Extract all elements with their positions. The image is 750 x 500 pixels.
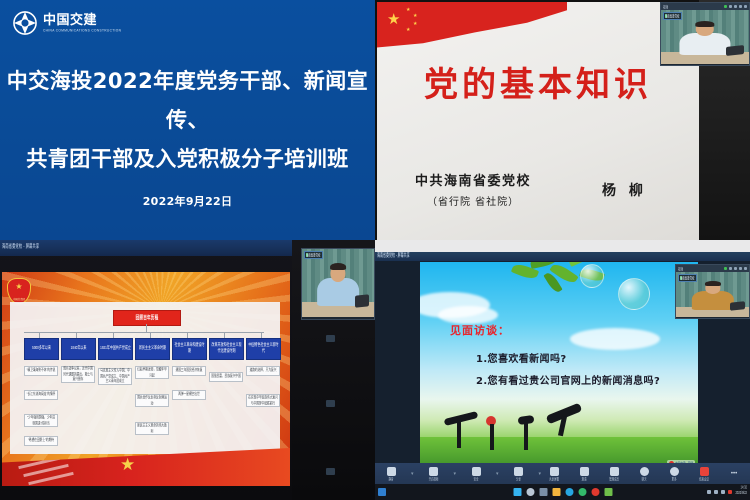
taskbar-date: 2022/9/22 (735, 490, 747, 495)
org-leaf-4-1: 红船早期发轫，觉醒年华兴起 (135, 366, 169, 379)
org-leaf-1-3: “少年强则国强，少年进则国进”的担当 (24, 414, 58, 427)
toolbar-end-label: 结束会议 (699, 475, 709, 482)
org-node-2: 1840年以来 (61, 338, 96, 360)
shared-window-title-right: 海南省委党校 - 屏幕共享 (377, 251, 410, 258)
toolbar-chat-button[interactable]: 聊天 (631, 467, 657, 481)
share-icon (514, 467, 523, 476)
projected-slide-left: ★ 中国共青团 回顾百年历程 5000多年以来 “精卫填海誓不休”的传说 (2, 272, 290, 486)
participant-name-chip: 海南省委党校 (663, 12, 682, 20)
participant-name: 海南省委党校 (665, 13, 679, 20)
participant-name-chip: 海南省委党校 (678, 274, 697, 282)
shared-window-titlebar-right[interactable]: 海南省委党校 - 屏幕共享 (375, 252, 750, 261)
org-chart-root: 回顾百年历程 (113, 310, 181, 326)
slide-heading: 见面访谈： (450, 322, 510, 338)
org-leaf-1-4: “希望在田野上”的期待 (24, 436, 58, 446)
toolbar-security-button[interactable]: 安全 (463, 467, 489, 481)
toolbar-end-meeting-button[interactable]: 结束会议 (691, 467, 717, 481)
cover-title: 中交海投2022年度党务干部、新闻宣传、 共青团干部及入党积极分子培训班 (0, 62, 375, 179)
toolbar-invite-button[interactable]: 邀请 (571, 467, 597, 481)
projected-slide-right: 见面访谈： 1.您喜欢看新闻吗? 2.您有看过贵公司官网上的新闻消息吗? 中国交… (420, 262, 698, 470)
meeting-toolbar[interactable]: 静音 ▾ 开启视频 ▾ 安全 ▾ 分享 ▾ (375, 463, 750, 484)
org-leaf-1-2: “长江东流海阔连”的情怀 (24, 390, 58, 400)
taskbar-clock[interactable]: 14:32 2022/9/22 (735, 487, 747, 497)
search-icon[interactable] (526, 488, 534, 496)
browser-icon[interactable] (604, 488, 612, 496)
layout-icon[interactable] (729, 5, 732, 8)
pip-window-title: 视频 (663, 3, 668, 9)
toolbar-chat-label: 聊天 (642, 475, 647, 482)
slide-organization: 中共海南省委党校 (415, 170, 531, 189)
camera-icon (429, 467, 438, 476)
pip-video-window-bottom-right[interactable]: 视频 海南省委党校 (675, 264, 750, 319)
toolbar-mute-label: 静音 (389, 475, 394, 482)
panel-course-cover: 中国交建 CHINA COMMUNICATIONS CONSTRUCTION 中… (0, 0, 375, 240)
grid-icon[interactable] (734, 267, 737, 270)
pip-window-title: 视频 (678, 265, 683, 271)
green-status-icon (724, 267, 727, 270)
panel-news-interview: 海南省委党校 - 屏幕共享 见面访谈： 1.您喜欢看新闻吗? (375, 240, 750, 500)
toolbar-share-label: 分享 (516, 475, 521, 482)
cover-title-line2: 共青团干部及入党积极分子培训班 (0, 140, 375, 179)
panel-century-journey: 海南省委党校 - 屏幕共享 ★ 中国共青团 回顾百年历程 5000多年以来 (0, 240, 375, 500)
close-icon[interactable] (744, 267, 747, 270)
chevron-down-icon[interactable]: ▾ (411, 471, 414, 477)
pip-video-feed: 海南省委党校 (302, 249, 374, 317)
start-icon[interactable] (378, 488, 386, 496)
explorer-icon[interactable] (552, 488, 560, 496)
edge-icon[interactable] (565, 488, 573, 496)
network-icon[interactable] (714, 490, 718, 494)
bubble-icon (618, 278, 650, 310)
expand-icon[interactable] (739, 5, 742, 8)
leaves-decoration-icon (506, 262, 636, 308)
participant-name: 海南省委党校 (306, 252, 320, 259)
toolbar-video-button[interactable]: 开启视频 (421, 467, 447, 481)
org-leaf-5-2: 两弹一星横空出世 (172, 390, 206, 400)
org-leaf-7-2: 在实现中华民族伟大复兴与中国梦中砥砺前行 (246, 394, 280, 407)
toolbar-video-label: 开启视频 (429, 475, 439, 482)
org-leaf-6-1: 国强民富、民族复兴中国 (209, 372, 243, 382)
notification-icon[interactable] (728, 490, 732, 494)
toolbar-security-label: 安全 (474, 475, 479, 482)
logo-en-text: CHINA COMMUNICATIONS CONSTRUCTION (43, 29, 121, 33)
members-icon (610, 467, 619, 476)
screen-share-icon (550, 467, 559, 476)
org-leaf-4-2: 国共合作反反帝反封建运动 (135, 394, 169, 407)
green-status-icon (724, 5, 727, 8)
meeting-window: 海南省委党校 - 屏幕共享 见面访谈： 1.您喜欢看新闻吗? (375, 252, 750, 470)
invite-icon (580, 467, 589, 476)
toolbar-screenshare-button[interactable]: 共享屏幕 (541, 467, 567, 481)
org-node-6: 改革开放和社会主义现代化建设时期 (209, 338, 244, 360)
grid-icon[interactable] (734, 5, 737, 8)
slide-title: 党的基本知识 (377, 57, 699, 106)
org-chart-canvas: 回顾百年历程 5000多年以来 “精卫填海誓不休”的传说 “长江东流海阔连”的情… (10, 302, 280, 454)
toolbar-overflow-button[interactable]: ••• (721, 471, 747, 477)
org-leaf-7-1: 道路的选择、只为复兴 (246, 366, 280, 376)
layout-icon[interactable] (729, 267, 732, 270)
bubble-icon (580, 264, 604, 288)
toolbar-members-label: 管理成员 (609, 475, 619, 482)
close-icon[interactable] (744, 5, 747, 8)
chevron-down-icon[interactable]: ▾ (454, 471, 457, 477)
toolbar-invite-label: 邀请 (582, 475, 587, 482)
expand-icon[interactable] (739, 267, 742, 270)
screenshot-collage: 中国交建 CHINA COMMUNICATIONS CONSTRUCTION 中… (0, 0, 750, 500)
more-icon (670, 467, 679, 476)
org-leaf-4-3: 新民主主义革命的伟大胜利 (135, 422, 169, 435)
cover-title-line1: 中交海投2022年度党务干部、新闻宣传、 (0, 62, 375, 140)
participant-name: 海南省委党校 (680, 275, 694, 282)
org-node-7: 中国特色社会主义新时代 (246, 338, 281, 360)
cccc-logo: 中国交建 CHINA COMMUNICATIONS CONSTRUCTION (12, 10, 121, 36)
toolbar-screenshare-label: 共享屏幕 (549, 475, 559, 482)
projection-screen: ★★★ ★★ 党的基本知识 中共海南省委党校 （省行院 省社院） 杨 柳 (377, 2, 699, 240)
org-chart: 回顾百年历程 5000多年以来 “精卫填海誓不休”的传说 “长江东流海阔连”的情… (10, 302, 280, 454)
cover-date: 2022年9月22日 (0, 193, 375, 209)
star-icon: ★ (120, 456, 135, 473)
toolbar-members-button[interactable]: 管理成员 (601, 467, 627, 481)
org-leaf-1-1: “精卫填海誓不休”的传说 (24, 366, 58, 376)
participant-name-chip: 海南省委党校 (304, 251, 323, 259)
youth-league-emblem-icon: ★ 中国共青团 (7, 278, 31, 304)
shared-window-title-left: 海南省委党校 - 屏幕共享 (2, 241, 39, 250)
toolbar-more-label: 更多 (672, 475, 677, 482)
slide-question-1: 1.您喜欢看新闻吗? (476, 350, 567, 365)
pip-video-window-top[interactable]: 视频 海南省委党校 (660, 2, 750, 66)
toolbar-mute-button[interactable]: 静音 (378, 467, 404, 481)
chat-icon (640, 467, 649, 476)
panel-party-knowledge: ★★★ ★★ 党的基本知识 中共海南省委党校 （省行院 省社院） 杨 柳 视频 (375, 0, 750, 240)
slide-organization-sub: （省行院 省社院） (427, 193, 519, 208)
windows-taskbar[interactable]: 14:32 2022/9/22 (375, 484, 750, 500)
slide-speaker: 杨 柳 (602, 180, 647, 200)
toolbar-share-button[interactable]: 分享 (506, 467, 532, 481)
org-node-5: 社会主义革命和建设时期 (172, 338, 207, 360)
pip-titlebar[interactable]: 视频 (661, 3, 749, 10)
chevron-down-icon[interactable]: ▾ (496, 471, 499, 477)
end-call-icon (700, 467, 709, 476)
pip-video-feed: 海南省委党校 (661, 10, 749, 64)
org-node-4: 新民主主义革命时期 (135, 338, 170, 360)
record-icon[interactable] (591, 488, 599, 496)
taskview-icon[interactable] (539, 488, 547, 496)
microphone-prop-icon (444, 411, 479, 426)
pip-titlebar[interactable]: 视频 (676, 265, 749, 272)
org-leaf-5-1: 建国三年国民经济恢复 (172, 366, 206, 376)
compass-emblem-icon (12, 10, 38, 36)
microphone-icon (387, 467, 396, 476)
org-node-3: 1921年中国共产党成立 (98, 338, 133, 360)
toolbar-more-button[interactable]: 更多 (661, 467, 687, 481)
logo-cn-text: 中国交建 (43, 14, 121, 27)
chevron-up-icon[interactable] (707, 490, 711, 494)
shield-icon (472, 467, 481, 476)
volume-icon[interactable] (721, 490, 725, 494)
org-leaf-3-1: 马克思主义传入中国、中国共产党成立、中国共产主义青年团成立 (98, 368, 132, 385)
meeting-icon[interactable] (578, 488, 586, 496)
pip-video-feed: 海南省委党校 (676, 272, 749, 317)
china-flag-icon: ★★★ ★★ (377, 2, 567, 50)
shared-window-titlebar-left[interactable]: 海南省委党校 - 屏幕共享 (0, 240, 304, 256)
start-icon[interactable] (513, 488, 521, 496)
pip-video-window-bottom-left[interactable]: 海南省委党校 (301, 248, 375, 320)
org-leaf-2-1: 鸦片战争以来，近代中国时代课题的提出，救亡与复兴图存 (61, 366, 95, 383)
slide-question-2: 2.您有看过贵公司官网上的新闻消息吗? (476, 372, 660, 387)
org-node-1: 5000多年以来 (24, 338, 59, 360)
